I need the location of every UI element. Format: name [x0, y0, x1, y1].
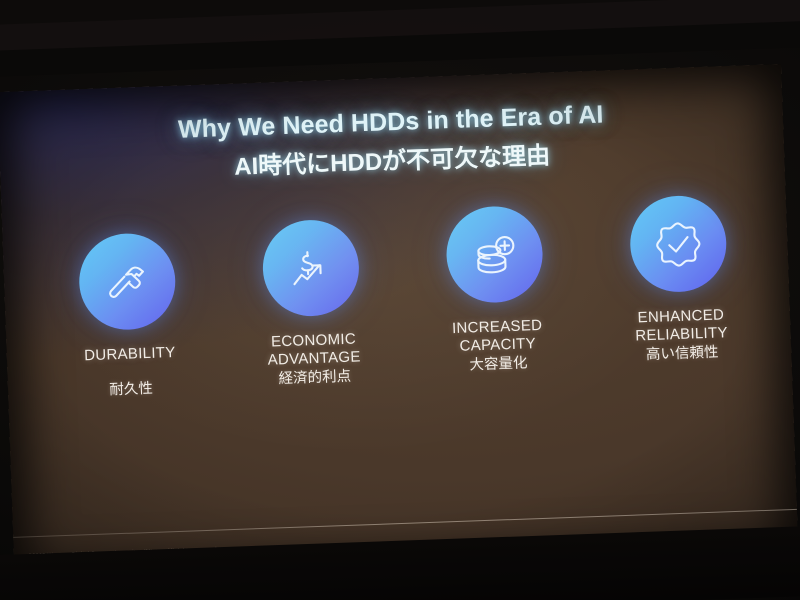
feature-economic-advantage: ECONOMIC ADVANTAGE 経済的利点 — [220, 217, 404, 390]
feature-label-english: INCREASED CAPACITY — [408, 315, 587, 358]
feature-label-japanese: 耐久性 — [42, 379, 221, 403]
database-plus-icon — [466, 226, 524, 284]
projection-screen: Why We Need HDDs in the Era of AI AI時代にH… — [0, 64, 799, 586]
feature-icon-circle — [261, 218, 360, 317]
presentation-photo: Why We Need HDDs in the Era of AI AI時代にH… — [0, 0, 800, 600]
feature-durability: DURABILITY 耐久性 — [37, 231, 221, 403]
slide-title-block: Why We Need HDDs in the Era of AI AI時代にH… — [0, 94, 784, 190]
feature-icon-circle — [78, 232, 177, 331]
feature-label-english: ENHANCED RELIABILITY — [592, 305, 771, 348]
dollar-growth-arrow-icon — [282, 239, 340, 297]
feature-icon-circle — [629, 194, 728, 293]
feature-label-english: DURABILITY — [41, 342, 220, 367]
feature-row: DURABILITY 耐久性 — [36, 193, 772, 403]
feature-enhanced-reliability: ENHANCED RELIABILITY 高い信頼性 — [588, 193, 772, 366]
feature-label-line: DURABILITY — [41, 342, 220, 367]
hammer-icon — [99, 254, 155, 310]
feature-label-english: ECONOMIC ADVANTAGE — [224, 329, 403, 372]
verified-badge-check-icon — [648, 214, 708, 274]
feature-increased-capacity: INCREASED CAPACITY 大容量化 — [404, 203, 588, 376]
slide-surface: Why We Need HDDs in the Era of AI AI時代にH… — [0, 64, 799, 586]
feature-icon-circle — [445, 205, 544, 304]
